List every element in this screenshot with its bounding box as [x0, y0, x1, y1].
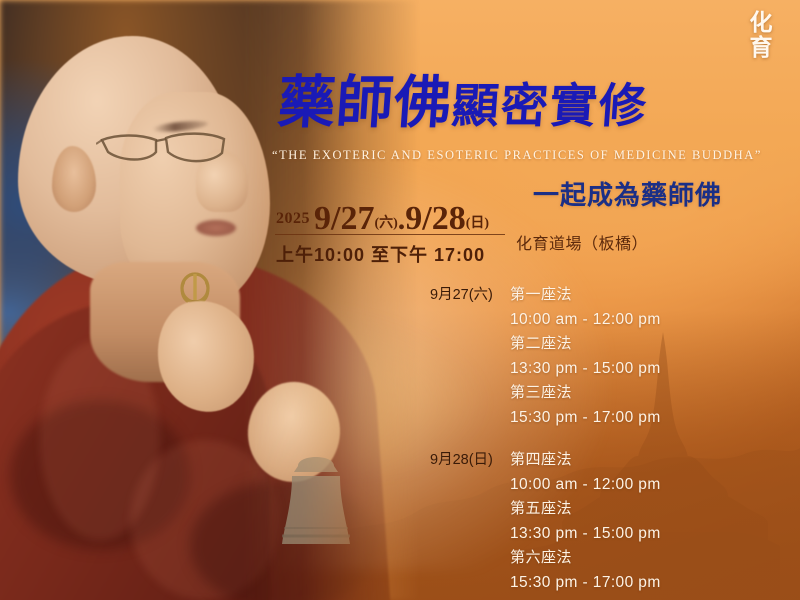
- event-day-1-weekday: (六): [374, 216, 397, 231]
- title-part-2: 顯密實修: [450, 81, 650, 133]
- organization-logo: 化 育: [744, 10, 778, 60]
- session-time: 13:30 pm - 15:00 pm: [510, 356, 770, 381]
- session-name: 第四座法: [510, 448, 770, 472]
- eyeglasses-icon: [96, 126, 246, 170]
- event-year: 2025: [276, 210, 310, 227]
- event-day-2: 9/28: [405, 200, 465, 237]
- ritual-bell-icon: [276, 432, 356, 552]
- schedule-day-label: 9月27(六): [430, 283, 504, 304]
- session-name: 第一座法: [510, 283, 770, 307]
- session-name: 第三座法: [510, 381, 770, 405]
- monk-lips: [196, 220, 236, 236]
- schedule-day: 9月28(日) 第四座法 10:00 am - 12:00 pm 第五座法 13…: [430, 448, 770, 595]
- logo-char-1: 化: [744, 10, 778, 35]
- title-part-1: 藥師佛: [276, 72, 454, 135]
- schedule: 9月27(六) 第一座法 10:00 am - 12:00 pm 第二座法 13…: [430, 283, 770, 600]
- event-venue: 化育道場（板橋）: [516, 230, 648, 254]
- schedule-session: 第一座法 10:00 am - 12:00 pm: [510, 283, 770, 332]
- session-time: 10:00 am - 12:00 pm: [510, 472, 770, 497]
- poster-title: 藥師佛顯密實修: [276, 72, 701, 140]
- session-time: 10:00 am - 12:00 pm: [510, 307, 770, 332]
- event-poster: 化 育 藥師佛顯密實修 “THE EXOTERIC AND ESOTERIC P…: [0, 0, 800, 600]
- session-name: 第五座法: [510, 497, 770, 521]
- date-divider: [275, 234, 505, 235]
- session-name: 第六座法: [510, 546, 770, 570]
- event-day-2-weekday: (日): [466, 216, 489, 231]
- schedule-sessions: 第一座法 10:00 am - 12:00 pm 第二座法 13:30 pm -…: [510, 283, 770, 430]
- schedule-day-label: 9月28(日): [430, 448, 504, 469]
- poster-subtitle: 一起成為藥師佛: [533, 175, 722, 212]
- schedule-session: 第六座法 15:30 pm - 17:00 pm: [510, 546, 770, 595]
- schedule-sessions: 第四座法 10:00 am - 12:00 pm 第五座法 13:30 pm -…: [510, 448, 770, 595]
- schedule-session: 第二座法 13:30 pm - 15:00 pm: [510, 332, 770, 381]
- logo-char-2: 育: [744, 35, 778, 60]
- session-time: 15:30 pm - 17:00 pm: [510, 570, 770, 595]
- session-time: 15:30 pm - 17:00 pm: [510, 405, 770, 430]
- schedule-session: 第三座法 15:30 pm - 17:00 pm: [510, 381, 770, 430]
- event-time-range: 上午10:00 至下午 17:00: [276, 241, 485, 267]
- schedule-session: 第四座法 10:00 am - 12:00 pm: [510, 448, 770, 497]
- poster-title-english: “THE EXOTERIC AND ESOTERIC PRACTICES OF …: [272, 148, 742, 163]
- event-day-1: 9/27: [314, 200, 374, 237]
- session-name: 第二座法: [510, 332, 770, 356]
- schedule-day: 9月27(六) 第一座法 10:00 am - 12:00 pm 第二座法 13…: [430, 283, 770, 430]
- schedule-session: 第五座法 13:30 pm - 15:00 pm: [510, 497, 770, 546]
- event-date: 2025 9/27(六).9/28(日): [276, 200, 489, 238]
- session-time: 13:30 pm - 15:00 pm: [510, 521, 770, 546]
